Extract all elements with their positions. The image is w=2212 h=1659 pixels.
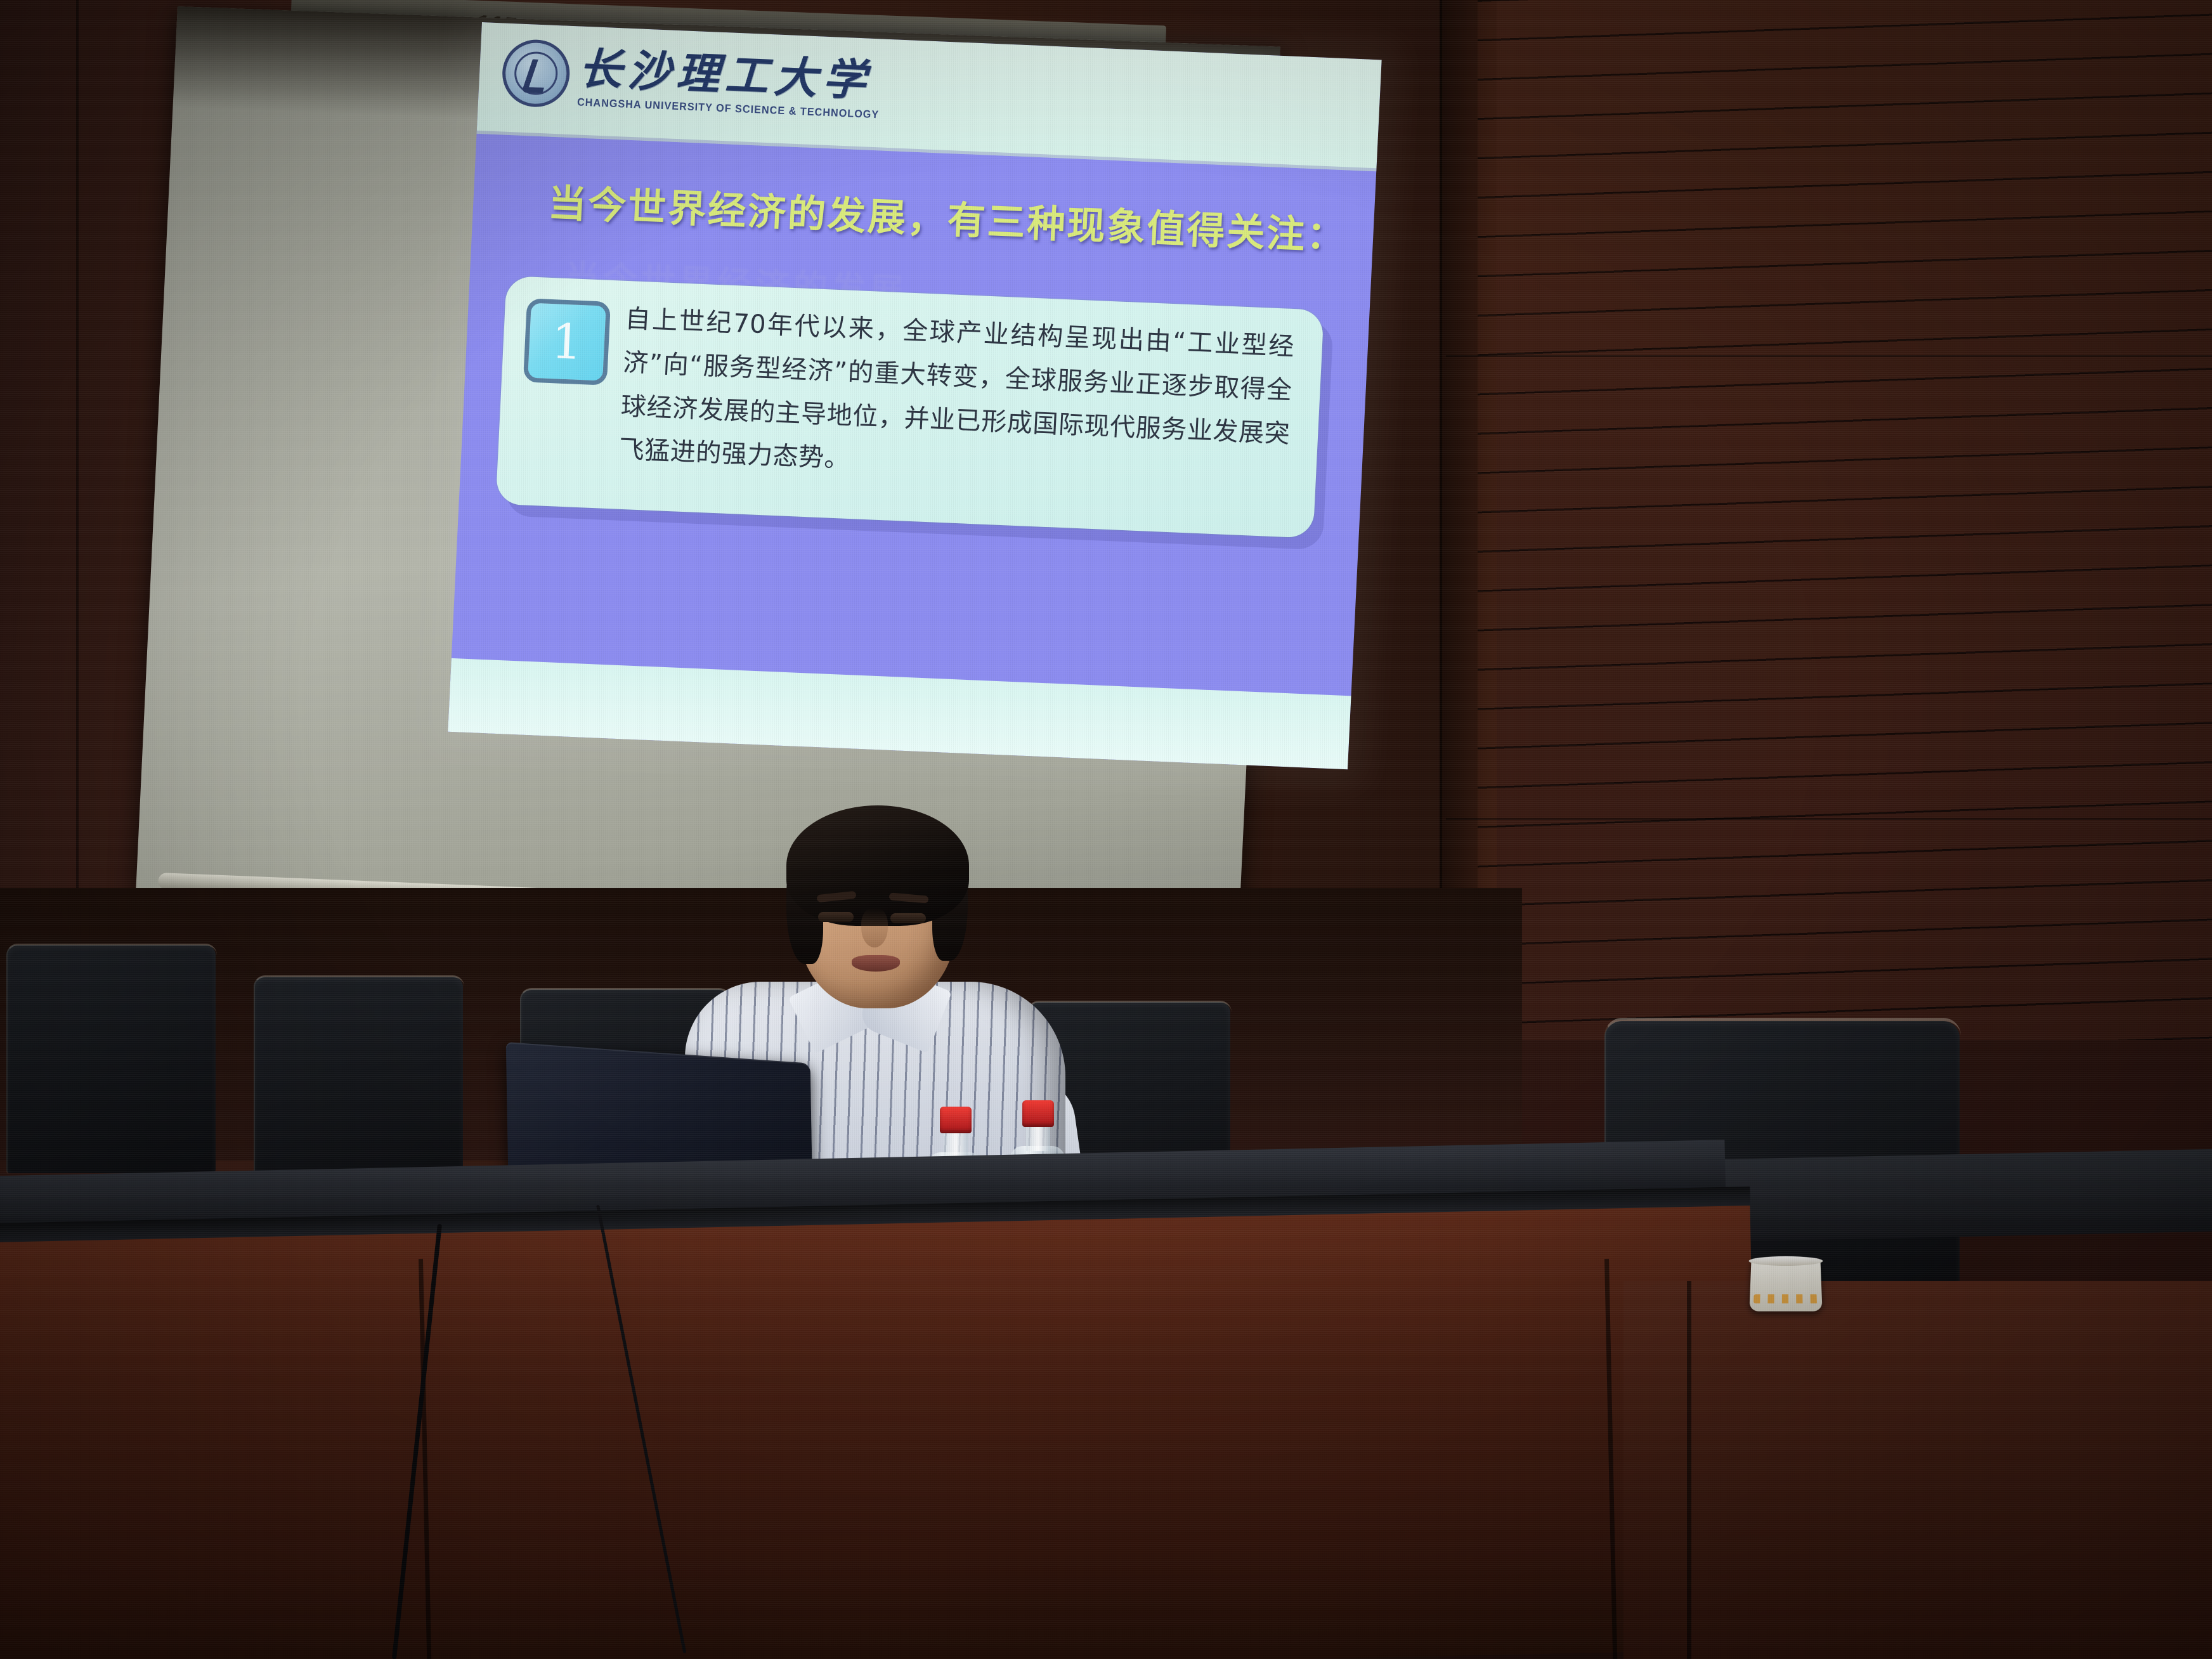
- desk-front-panel-right: [1623, 1281, 2212, 1659]
- bottle-cap[interactable]: [940, 1107, 972, 1133]
- desk-panel-seam: [1687, 1281, 1691, 1659]
- bottle-neck: [944, 1132, 968, 1157]
- mouth: [852, 955, 900, 972]
- slide-header-band: 长沙理工大学 CHANGSHA UNIVERSITY OF SCIENCE & …: [477, 22, 1382, 171]
- paper-cup[interactable]: [1749, 1260, 1822, 1311]
- wall-seam-horizontal: [1446, 355, 2212, 357]
- logo-text-group: 长沙理工大学 CHANGSHA UNIVERSITY OF SCIENCE & …: [577, 47, 898, 122]
- university-seal-icon: [501, 38, 571, 108]
- bullet-number-label: 1: [550, 317, 583, 367]
- wall-seam-horizontal: [1446, 818, 2212, 820]
- slide-title: 当今世界经济的发展，有三种现象值得关注：: [547, 172, 1348, 261]
- slide-body-text: 自上世纪70年代以来，全球产业结构呈现出由“工业型经济”向“服务型经济”的重大转…: [618, 297, 1295, 500]
- cup-pattern: [1753, 1294, 1818, 1303]
- eye-right: [890, 913, 926, 923]
- wall-seam: [76, 0, 79, 926]
- bullet-number-badge: 1: [523, 298, 611, 385]
- eye-left: [818, 912, 854, 922]
- projection-screen: 115 长沙理工大学 CHANGSHA UNIVERSITY OF SCIENC…: [304, 0, 1497, 926]
- conference-room-scene: 115 长沙理工大学 CHANGSHA UNIVERSITY OF SCIENC…: [0, 0, 2212, 1659]
- logo-chinese-name: 长沙理工大学: [578, 47, 897, 103]
- chair-rim: [6, 944, 217, 1174]
- projected-slide: 长沙理工大学 CHANGSHA UNIVERSITY OF SCIENCE & …: [448, 22, 1381, 769]
- slide-content-card: 1 自上世纪70年代以来，全球产业结构呈现出由“工业型经济”向“服务型经济”的重…: [496, 276, 1324, 538]
- chair-rim: [254, 975, 464, 1187]
- bottle-neck: [1026, 1126, 1050, 1151]
- nose: [861, 908, 888, 947]
- university-logo: 长沙理工大学 CHANGSHA UNIVERSITY OF SCIENCE & …: [501, 38, 898, 122]
- desk-front-panel: [0, 1206, 1759, 1659]
- bottle-cap[interactable]: [1022, 1100, 1054, 1127]
- wall-slat-panel: [1478, 0, 2212, 1040]
